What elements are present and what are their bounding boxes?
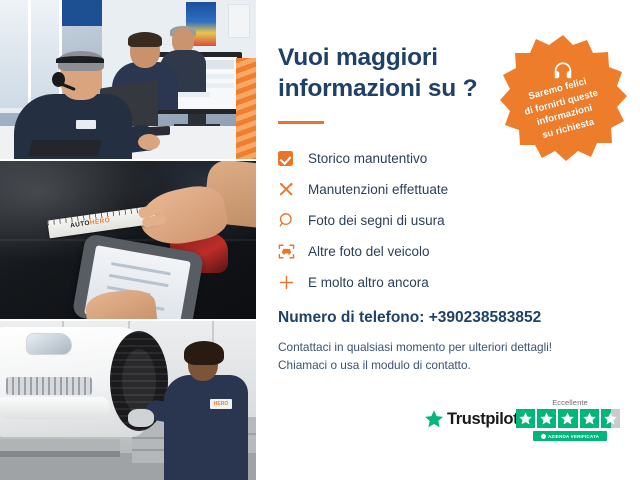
phone-number-line: Numero di telefono: +390238583852 [278, 309, 541, 327]
feature-item-manutenzioni-effettuate: Manutenzioni effettuate [278, 174, 578, 204]
promo-banner: AUTOHERO [0, 0, 640, 480]
page-title: Vuoi maggiori informazioni su ? [278, 42, 518, 104]
rating-star-filled [558, 409, 577, 428]
orange-equipment-rack [236, 58, 256, 159]
rating-star-filled [580, 409, 599, 428]
car-grille [6, 377, 92, 395]
mechanic-torso [164, 375, 248, 480]
trustpilot-star-row [516, 409, 624, 428]
mechanic-glove [128, 409, 154, 427]
contact-instructions: Contattaci in qualsiasi momento per ulte… [278, 339, 552, 374]
rating-star-filled [516, 409, 535, 428]
magnifier-icon [278, 212, 308, 229]
trustpilot-widget[interactable]: Trustpilot Eccellente [424, 398, 624, 446]
tablet-screen-line [111, 262, 171, 275]
tablet-screen-line [109, 273, 169, 286]
feature-label: Foto dei segni di usura [308, 213, 445, 228]
check-square-icon [278, 151, 308, 166]
verified-company-label: AZIENDA VERIFICATA [548, 434, 599, 439]
trustpilot-rating-label: Eccellente [516, 398, 624, 407]
feature-item-foto-segni-usura: Foto dei segni di usura [278, 205, 578, 235]
photo-column: AUTOHERO [0, 0, 256, 480]
plus-icon [278, 274, 308, 291]
call-center-agents-photo [0, 0, 256, 159]
mechanic-logo-text: HERO [210, 399, 232, 409]
trustpilot-wordmark: Trustpilot [447, 410, 518, 429]
feature-list: Storico manutentivo Manutenzioni effettu… [278, 143, 578, 298]
car-scan-frame-icon [278, 243, 308, 260]
title-underline-rule [278, 121, 324, 124]
trustpilot-logo[interactable]: Trustpilot [424, 409, 518, 429]
mechanic: HERO [164, 341, 248, 480]
agent-hand [138, 134, 160, 150]
mechanic-logo-patch: HERO [210, 399, 232, 409]
verified-check-icon [541, 434, 546, 439]
blue-wall-band [62, 0, 102, 26]
second-agent-hair [128, 32, 162, 47]
mechanic-hair [184, 341, 224, 365]
rating-star-half [601, 409, 620, 428]
feature-label: E molto altro ancora [308, 275, 429, 290]
car-lift-shadow [0, 451, 120, 457]
car-bumper [0, 397, 110, 419]
ruler-on-car-photo: AUTOHERO [0, 161, 256, 320]
feature-item-altre-foto-veicolo: Altre foto del veicolo [278, 236, 578, 266]
contact-line-2: Chiamaci o usa il modulo di contatto. [278, 357, 552, 375]
trustpilot-rating-block: Eccellente AZIEND [516, 398, 624, 441]
trustpilot-star-icon [424, 409, 444, 429]
rating-star-filled [537, 409, 556, 428]
verified-company-badge: AZIENDA VERIFICATA [533, 431, 607, 441]
feature-label: Storico manutentivo [308, 151, 427, 166]
agent-name-badge [76, 120, 96, 129]
feature-item-molto-altro: E molto altro ancora [278, 267, 578, 297]
wall-notice [228, 4, 250, 38]
car-headlight [26, 333, 72, 355]
feature-label: Altre foto del veicolo [308, 244, 430, 259]
tools-cross-icon [278, 181, 308, 198]
desk-tablet [28, 140, 102, 156]
mechanic-wheel-photo: HERO [0, 321, 256, 480]
page-title-line-2: informazioni su ? [278, 73, 518, 104]
page-title-line-1: Vuoi maggiori [278, 42, 518, 73]
headset-band [56, 56, 104, 63]
callout-badge: Saremo felici di fornirti queste informa… [498, 33, 628, 163]
feature-label: Manutenzioni effettuate [308, 182, 448, 197]
contact-line-1: Contattaci in qualsiasi momento per ulte… [278, 339, 552, 357]
